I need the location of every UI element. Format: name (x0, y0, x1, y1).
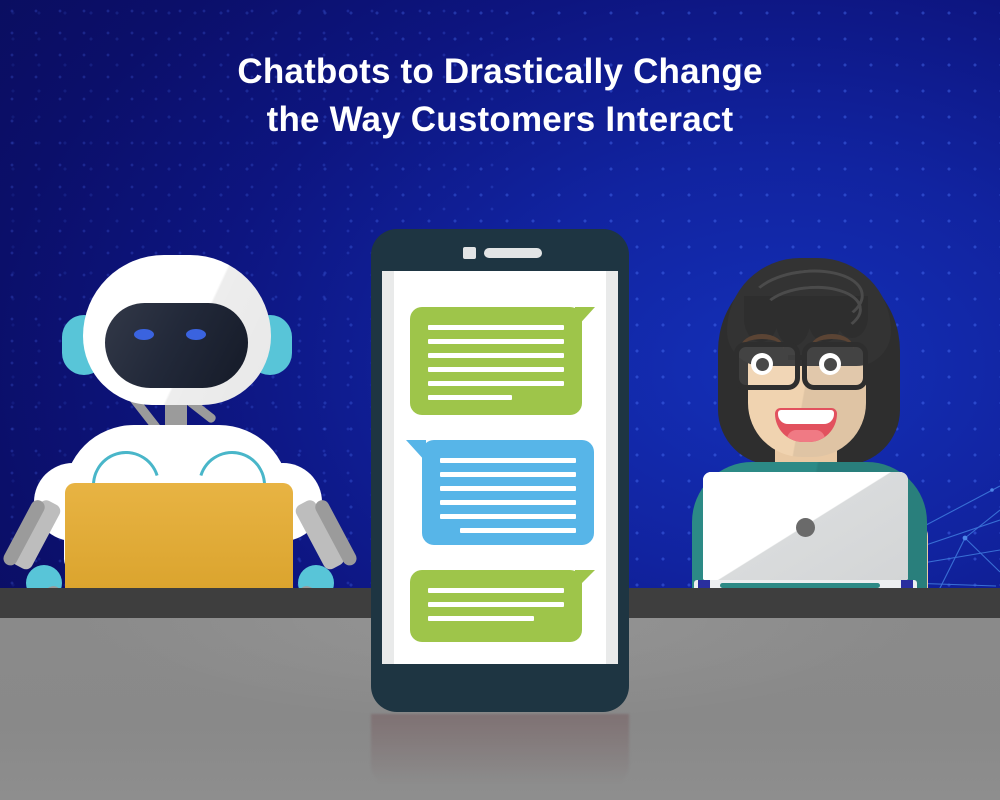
phone-screen-bezel-right (606, 271, 618, 664)
robot-eye-right-icon (186, 329, 206, 340)
page-title: Chatbots to Drastically Change the Way C… (0, 48, 1000, 144)
chat-text-line (428, 395, 512, 400)
chat-text-line (428, 325, 564, 330)
chat-bubble-user-1[interactable] (406, 440, 594, 545)
chat-text-line (428, 381, 564, 386)
phone-speaker-icon (484, 248, 542, 258)
chat-text-line (440, 500, 576, 505)
woman-glasses-right-lens (802, 342, 868, 390)
robot-eye-left-icon (134, 329, 154, 340)
chat-text-line (428, 588, 564, 593)
woman-glasses-left-lens (734, 342, 800, 390)
woman-tongue (787, 430, 825, 442)
woman-teeth (778, 410, 834, 424)
chat-bubble-tail (575, 570, 595, 590)
chat-text-line (428, 602, 564, 607)
phone-camera-icon (463, 247, 476, 259)
customer-woman (670, 250, 970, 600)
chat-bubble-tail (575, 307, 595, 329)
chat-text-line (428, 367, 564, 372)
phone-screen-bezel-left (382, 271, 394, 664)
illustration-canvas: Chatbots to Drastically Change the Way C… (0, 0, 1000, 800)
chat-bubble-bot-1[interactable] (410, 307, 595, 415)
robot-laptop-shading (65, 483, 293, 601)
chat-text-line (428, 339, 564, 344)
chat-text-line (440, 486, 576, 491)
chat-text-line (440, 514, 576, 519)
chat-text-line (440, 458, 576, 463)
chat-bubble-tail (406, 440, 426, 462)
robot-visor-glare (105, 303, 248, 388)
chat-bubble-bot-2[interactable] (410, 570, 595, 642)
chatbot-robot (20, 255, 340, 600)
title-line-1: Chatbots to Drastically Change (0, 48, 1000, 96)
chat-text-line (440, 472, 576, 477)
chat-text-line (460, 528, 576, 533)
chat-text-line (428, 616, 534, 621)
woman-laptop-logo-icon (796, 518, 815, 537)
chat-text-line (428, 353, 564, 358)
title-line-2: the Way Customers Interact (0, 96, 1000, 144)
phone-reflection (371, 714, 629, 790)
